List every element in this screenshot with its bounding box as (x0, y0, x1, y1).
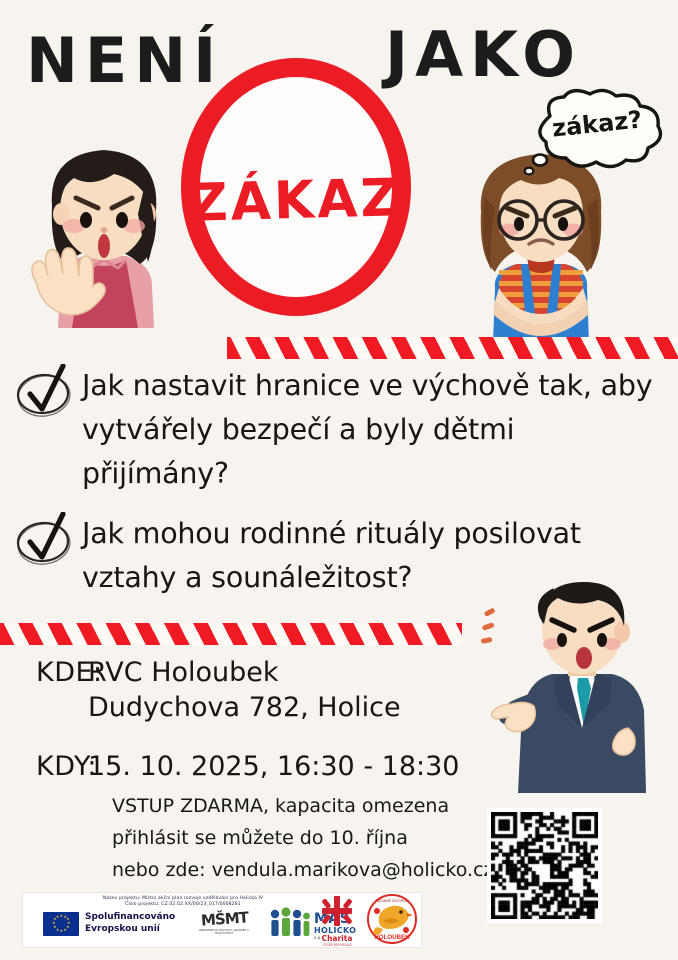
note-deadline: přihlásit se můžete do 10. října (112, 822, 512, 854)
svg-text:RODINNÉ CENTRUM: RODINNÉ CENTRUM (375, 898, 409, 903)
thought-bubble: zákaz? (520, 88, 665, 176)
footer-logo-strip: Název projektu: Místní akční plán rozvoj… (22, 892, 422, 948)
note-free-entry: VSTUP ZDARMA, kapacita omezena (112, 790, 512, 822)
holoubek-logo: HOLOUBEK RODINNÉ CENTRUM (365, 893, 421, 947)
eu-flag-icon: ★★★★★★★★★★★★ (43, 912, 79, 936)
eu-cofunding-text: Spolufinancováno Evropskou unií (85, 912, 175, 935)
where-value: RVC Holoubek Dudychova 782, Holice (88, 655, 401, 725)
checkmark-icon (13, 512, 75, 570)
charita-cross-icon (315, 893, 359, 929)
signup-notes: VSTUP ZDARMA, kapacita omezena přihlásit… (112, 790, 512, 886)
msmt-logo: MŠMT MINISTERSTVO ŠKOLSTVÍ, MLÁDEŽE A TĚ… (193, 909, 255, 941)
checkmark-icon (13, 364, 75, 422)
character-pointing-man (478, 578, 673, 793)
character-angry-woman (22, 128, 182, 328)
svg-text:HOLOUBEK: HOLOUBEK (374, 934, 410, 941)
headline-word-jako: JAKO (385, 24, 582, 86)
project-info: Název projektu: Místní akční plán rozvoj… (63, 896, 303, 909)
charita-subtitle: ČESKÁ REPUBLIKA (312, 943, 362, 947)
prohibition-sign-label: ZÁKAZ (190, 168, 403, 234)
when-value: 15. 10. 2025, 16:30 - 18:30 (88, 749, 459, 784)
when-label: KDY: (0, 749, 88, 784)
registration-qr-code[interactable] (487, 808, 602, 923)
venue-name: RVC Holoubek (88, 657, 279, 688)
hazard-tape-bottom (0, 623, 462, 645)
venue-address: Dudychova 782, Holice (88, 690, 401, 725)
eu-text-line1: Spolufinancováno (85, 912, 175, 924)
where-label: KDE: (0, 655, 88, 690)
mas-people-icon (268, 907, 312, 937)
question-text: Jak nastavit hranice ve výchově tak, aby… (0, 364, 678, 496)
charita-name: Charita (312, 934, 362, 943)
prohibition-sign: ZÁKAZ (181, 58, 411, 316)
headline-word-neni: NENÍ (26, 30, 223, 92)
project-number: Číslo projektu: CZ.02.02.XX/00/23_017/00… (63, 902, 303, 908)
hazard-tape-top (227, 337, 678, 359)
msmt-mark: MŠMT (200, 908, 248, 929)
question-list: Jak nastavit hranice ve výchově tak, aby… (0, 364, 678, 604)
eu-text-line2: Evropskou unií (85, 924, 175, 936)
poster-root: NENÍ JAKO ZÁKAZ zákaz? (0, 0, 678, 960)
question-item: Jak nastavit hranice ve výchově tak, aby… (0, 364, 678, 496)
charita-logo: Charita ČESKÁ REPUBLIKA (312, 893, 362, 947)
holoubek-dove-icon: HOLOUBEK RODINNÉ CENTRUM (365, 893, 419, 945)
note-email[interactable]: nebo zde: vendula.marikova@holicko.cz (112, 854, 512, 886)
msmt-subtitle: MINISTERSTVO ŠKOLSTVÍ, MLÁDEŽE A TĚLOVÝC… (193, 929, 255, 936)
